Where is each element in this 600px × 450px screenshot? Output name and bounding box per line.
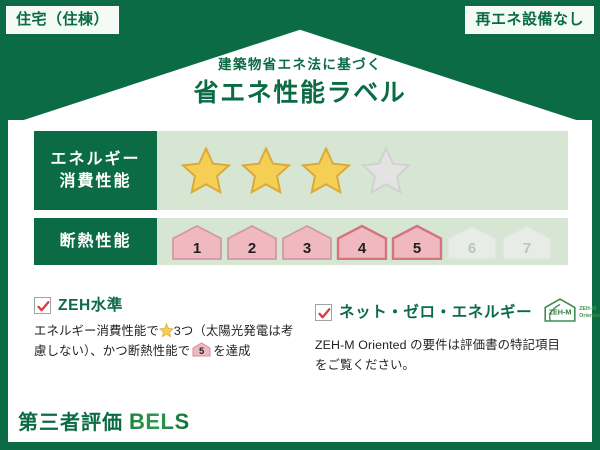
performance-rows: エネルギー 消費性能 断熱性能 1234567 — [34, 131, 568, 273]
zeh-standard-heading: ZEH水準 — [34, 297, 301, 314]
inline-star-icon — [159, 323, 174, 338]
zeh-m-logo-caption: ZEH-M Oriented — [579, 306, 600, 319]
insulation-grade-badge: 2 — [226, 224, 278, 260]
energy-performance-label-line1: エネルギー — [50, 149, 140, 171]
zeh-m-oriented-logo: ZEH-M ZEH-M Oriented — [543, 297, 600, 328]
star-filled-icon — [299, 145, 353, 197]
star-empty-icon — [359, 145, 413, 197]
energy-performance-label: 住宅（住棟） 再エネ設備なし 建築物省エネ法に基づく 省エネ性能ラベル エネルギ… — [0, 0, 600, 450]
svg-text:ZEH-M: ZEH-M — [549, 308, 572, 317]
third-party-evaluation-label: 第三者評価 — [18, 413, 123, 433]
energy-performance-row: エネルギー 消費性能 — [34, 131, 568, 210]
insulation-grade-badge-number: 1 — [171, 241, 223, 256]
bels-certificate-number: 0282651-02 — [207, 416, 276, 429]
energy-performance-label-cell: エネルギー 消費性能 — [34, 131, 157, 210]
insulation-grade-badge: 1 — [171, 224, 223, 260]
zeh-m-house-icon: ZEH-M — [543, 297, 577, 328]
energy-performance-value-cell — [157, 131, 568, 210]
insulation-grade-badge-number: 5 — [391, 241, 443, 256]
star-filled-icon — [179, 145, 233, 197]
zeh-standard-body: エネルギー消費性能で 3つ（太陽光発電は考慮しない）、かつ断熱性能で 5 を達成 — [34, 321, 301, 361]
net-zero-energy-title: ネット・ゼロ・エネルギー — [339, 305, 532, 321]
insulation-grade-badge-number: 2 — [226, 241, 278, 256]
title-block: 建築物省エネ法に基づく 省エネ性能ラベル — [0, 58, 600, 106]
notes-section: ZEH水準 エネルギー消費性能で 3つ（太陽光発電は考慮しない）、かつ断熱性能で… — [34, 297, 568, 375]
energy-performance-label-line2: 消費性能 — [59, 171, 131, 193]
inline-grade-badge-number: 5 — [192, 347, 211, 357]
renewable-equipment-tag: 再エネ設備なし — [465, 6, 594, 34]
title-subtitle: 建築物省エネ法に基づく — [0, 58, 600, 72]
star-rating — [179, 145, 413, 197]
checkbox-checked-icon — [34, 297, 51, 314]
zeh-standard-body-part3: を達成 — [213, 344, 250, 358]
insulation-performance-value-cell: 1234567 — [157, 218, 568, 265]
insulation-performance-label: 断熱性能 — [59, 231, 131, 253]
zeh-standard-title: ZEH水準 — [58, 298, 123, 314]
insulation-grade-scale: 1234567 — [171, 224, 553, 260]
bels-badge: 第三者評価 BELS — [10, 408, 198, 437]
insulation-performance-label-cell: 断熱性能 — [34, 218, 157, 265]
checkbox-checked-icon — [315, 304, 332, 321]
insulation-grade-badge: 7 — [501, 224, 553, 260]
bels-block: 第三者評価 BELS 0282651-02 — [10, 408, 275, 437]
insulation-grade-badge: 4 — [336, 224, 388, 260]
zeh-m-logo-caption-line2: Oriented — [579, 313, 600, 319]
insulation-grade-badge-number: 4 — [336, 241, 388, 256]
inline-grade-badge: 5 — [192, 342, 211, 357]
insulation-grade-badge: 6 — [446, 224, 498, 260]
document-uuid: f2f1f5ed-9861-410a — [444, 428, 586, 440]
net-zero-energy-body: ZEH-M Oriented の要件は評価書の特記項目をご覧ください。 — [315, 335, 568, 375]
bels-logo-text: BELS — [129, 411, 190, 433]
star-filled-icon — [239, 145, 293, 197]
label-footer: 第三者評価 BELS 0282651-02 評価日 2025年6月16日 f2f… — [0, 398, 600, 450]
evaluation-date-block: 評価日 2025年6月16日 f2f1f5ed-9861-410a — [444, 411, 586, 440]
insulation-grade-badge-number: 3 — [281, 241, 333, 256]
page-title: 省エネ性能ラベル — [0, 81, 600, 106]
insulation-grade-badge: 5 — [391, 224, 443, 260]
insulation-grade-badge-number: 7 — [501, 241, 553, 256]
insulation-grade-badge-number: 6 — [446, 241, 498, 256]
zeh-standard-note: ZEH水準 エネルギー消費性能で 3つ（太陽光発電は考慮しない）、かつ断熱性能で… — [34, 297, 301, 375]
insulation-performance-row: 断熱性能 1234567 — [34, 218, 568, 265]
net-zero-energy-heading: ネット・ゼロ・エネルギー ZEH-M ZEH-M Oriented — [315, 297, 568, 328]
building-type-tag: 住宅（住棟） — [6, 6, 119, 34]
evaluation-date: 評価日 2025年6月16日 — [444, 411, 586, 428]
zeh-standard-body-part1: エネルギー消費性能で — [34, 324, 159, 338]
zeh-m-logo-caption-line1: ZEH-M — [579, 306, 596, 312]
insulation-grade-badge: 3 — [281, 224, 333, 260]
net-zero-energy-note: ネット・ゼロ・エネルギー ZEH-M ZEH-M Oriented — [301, 297, 568, 375]
